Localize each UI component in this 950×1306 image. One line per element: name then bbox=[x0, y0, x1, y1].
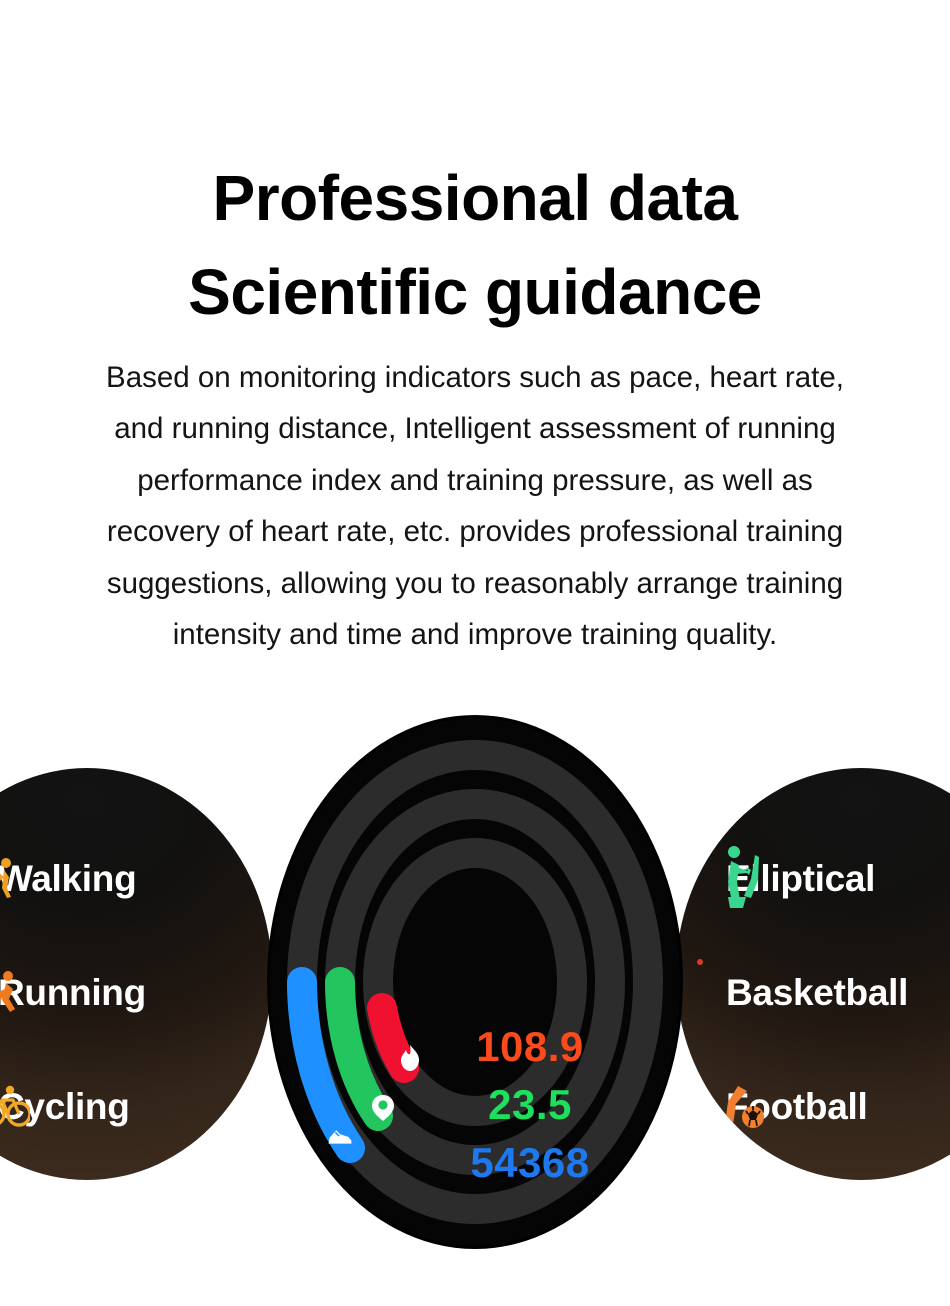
sport-item-football[interactable]: Football bbox=[726, 1078, 867, 1134]
sport-label-basketball: Basketball bbox=[726, 974, 908, 1011]
football-icon bbox=[718, 1080, 772, 1134]
bicycle-icon bbox=[0, 1081, 30, 1131]
description-paragraph: Based on monitoring indicators such as p… bbox=[40, 352, 910, 661]
sport-item-running[interactable]: Running bbox=[0, 964, 146, 1020]
left-watch-face: Walking Running Cyc bbox=[0, 768, 272, 1180]
metric-steps: 54368 bbox=[430, 1134, 630, 1192]
metric-distance: 23.5 bbox=[430, 1076, 630, 1134]
running-person-icon bbox=[0, 969, 26, 1015]
right-watch-face: Elliptical Basketball Football bbox=[676, 768, 950, 1180]
description-line-2: and running distance, Intelligent assess… bbox=[40, 403, 910, 455]
metric-values: 108.9 23.5 54368 bbox=[430, 1018, 630, 1192]
description-line-5: suggestions, allowing you to reasonably … bbox=[40, 558, 910, 610]
metric-calories: 108.9 bbox=[430, 1018, 630, 1076]
sport-item-walking[interactable]: Walking bbox=[0, 850, 136, 906]
center-watch-face: 108.9 23.5 54368 bbox=[270, 718, 680, 1246]
page-title: Professional data Scientific guidance bbox=[0, 151, 950, 339]
description-line-4: recovery of heart rate, etc. provides pr… bbox=[40, 506, 910, 558]
sport-item-cycling[interactable]: Cycling bbox=[0, 1078, 130, 1134]
description-line-3: performance index and training pressure,… bbox=[40, 455, 910, 507]
calories-ring-arc bbox=[382, 1008, 404, 1068]
watch-showcase: Walking Running Cyc bbox=[0, 640, 950, 1306]
walking-person-icon bbox=[0, 855, 26, 901]
basketball-icon bbox=[692, 954, 736, 998]
sport-item-basketball[interactable]: Basketball bbox=[726, 964, 908, 1020]
description-line-1: Based on monitoring indicators such as p… bbox=[40, 352, 910, 404]
promo-page: Professional data Scientific guidance Ba… bbox=[0, 0, 950, 1306]
sport-item-elliptical[interactable]: Elliptical bbox=[726, 850, 875, 906]
headline-line-1: Professional data bbox=[0, 151, 950, 245]
elliptical-trainer-icon bbox=[718, 842, 774, 912]
headline-line-2: Scientific guidance bbox=[0, 245, 950, 339]
